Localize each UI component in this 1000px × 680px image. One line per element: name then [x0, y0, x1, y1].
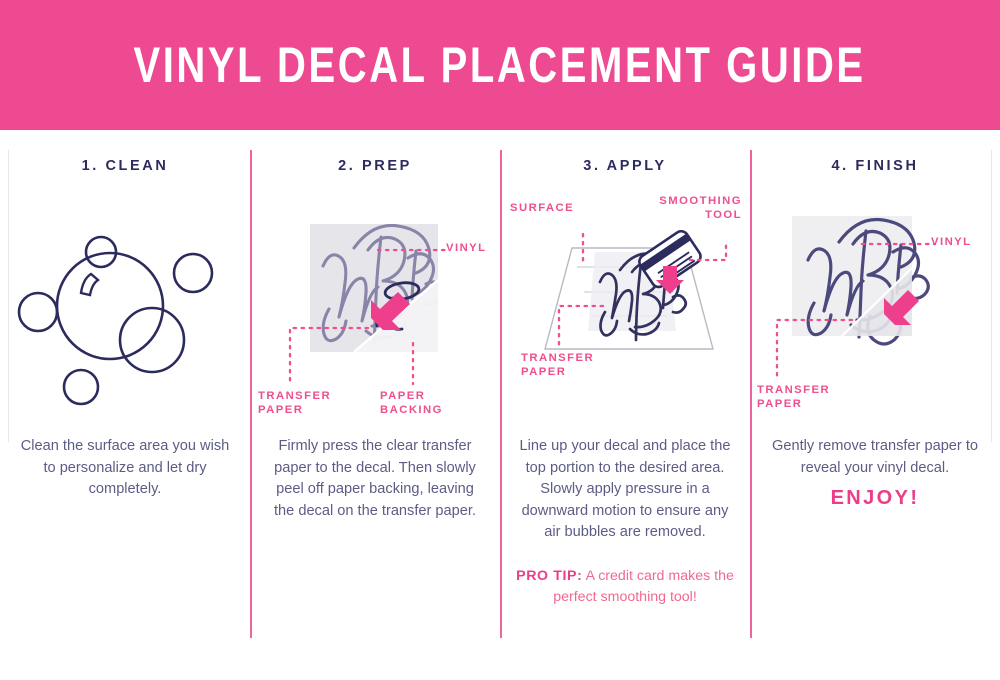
callout-vinyl: VINYL: [446, 241, 487, 255]
step-column-clean: 1. CLEAN: [0, 130, 250, 680]
steps-row: 1. CLEAN: [0, 130, 1000, 680]
step-body-wrap-apply: Line up your decal and place the top por…: [500, 436, 750, 608]
header-banner: VINYL DECAL PLACEMENT GUIDE: [0, 0, 1000, 130]
callout-surface: SURFACE: [510, 201, 574, 215]
callout-smoothing-tool: SMOOTHING TOOL: [659, 194, 742, 222]
step-title-clean: 1. CLEAN: [0, 158, 250, 174]
step-column-apply: 3. APPLY: [500, 130, 750, 680]
callout-transfer-paper: TRANSFER PAPER: [258, 389, 331, 417]
callout-transfer-paper: TRANSFER PAPER: [521, 351, 594, 379]
callout-paper-backing: PAPER BACKING: [380, 389, 443, 417]
callout-vinyl: VINYL: [931, 235, 972, 249]
step-body-finish: Gently remove transfer paper to reveal y…: [764, 436, 986, 479]
pro-tip: PRO TIP: A credit card makes the perfect…: [514, 566, 736, 608]
step-title-prep: 2. PREP: [250, 158, 500, 174]
step-body-wrap-finish: Gently remove transfer paper to reveal y…: [750, 436, 1000, 510]
step-body-clean: Clean the surface area you wish to perso…: [14, 436, 236, 501]
step-body-prep: Firmly press the clear transfer paper to…: [264, 436, 486, 522]
step-title-apply: 3. APPLY: [500, 158, 750, 174]
step-body-wrap-prep: Firmly press the clear transfer paper to…: [250, 436, 500, 522]
infographic-page: VINYL DECAL PLACEMENT GUIDE 1. CLEAN: [0, 0, 1000, 680]
pro-tip-label: PRO TIP:: [516, 568, 582, 584]
step-title-finish: 4. FINISH: [750, 158, 1000, 174]
step-column-prep: 2. PREP: [250, 130, 500, 680]
callout-transfer-paper: TRANSFER PAPER: [757, 383, 830, 411]
step-column-finish: 4. FINISH: [750, 130, 1000, 680]
step-body-apply: Line up your decal and place the top por…: [514, 436, 736, 544]
step-body-wrap-clean: Clean the surface area you wish to perso…: [0, 436, 250, 501]
page-title: VINYL DECAL PLACEMENT GUIDE: [134, 40, 866, 90]
closing-enjoy: ENJOY!: [764, 487, 986, 510]
